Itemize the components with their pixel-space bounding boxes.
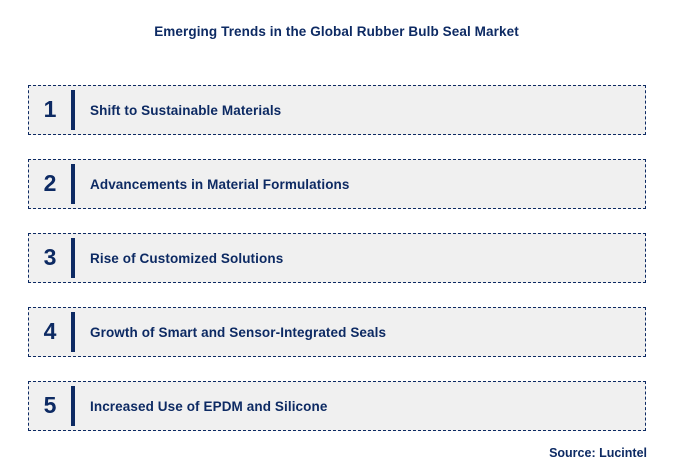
infographic-page: Emerging Trends in the Global Rubber Bul… — [0, 0, 673, 476]
list-item[interactable]: 3 Rise of Customized Solutions — [28, 233, 646, 283]
trend-label: Shift to Sustainable Materials — [75, 103, 645, 118]
trend-list: 1 Shift to Sustainable Materials 2 Advan… — [28, 85, 646, 431]
list-item[interactable]: 1 Shift to Sustainable Materials — [28, 85, 646, 135]
trend-number: 2 — [29, 172, 71, 197]
trend-label: Advancements in Material Formulations — [75, 177, 645, 192]
trend-number: 3 — [29, 246, 71, 271]
trend-number: 4 — [29, 320, 71, 345]
list-item[interactable]: 5 Increased Use of EPDM and Silicone — [28, 381, 646, 431]
trend-number: 5 — [29, 394, 71, 419]
page-title: Emerging Trends in the Global Rubber Bul… — [0, 24, 673, 39]
list-item[interactable]: 2 Advancements in Material Formulations — [28, 159, 646, 209]
trend-label: Increased Use of EPDM and Silicone — [75, 399, 645, 414]
trend-number: 1 — [29, 98, 71, 123]
trend-label: Rise of Customized Solutions — [75, 251, 645, 266]
trend-label: Growth of Smart and Sensor-Integrated Se… — [75, 325, 645, 340]
list-item[interactable]: 4 Growth of Smart and Sensor-Integrated … — [28, 307, 646, 357]
source-attribution: Source: Lucintel — [549, 446, 647, 460]
